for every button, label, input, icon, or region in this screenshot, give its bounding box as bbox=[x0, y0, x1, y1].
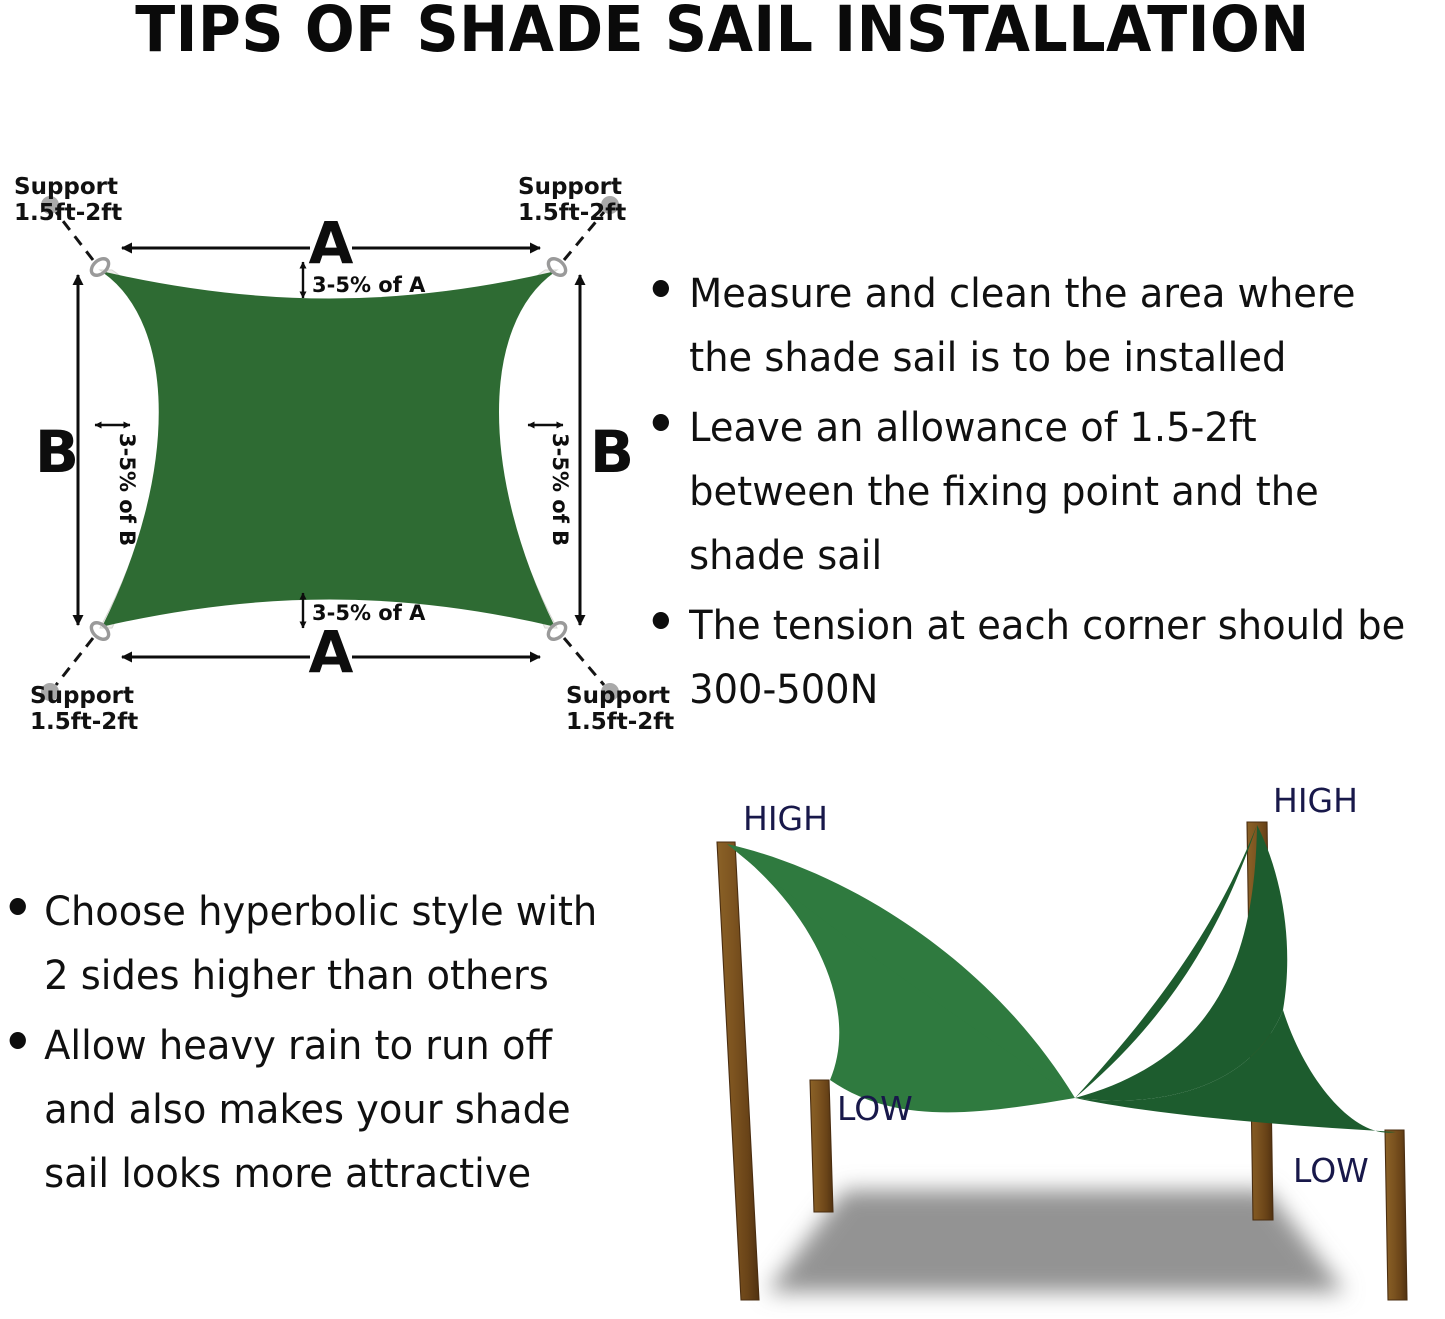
page-title: TIPS OF SHADE SAIL INSTALLATION bbox=[51, 0, 1395, 64]
bullet-dot-icon bbox=[653, 414, 669, 431]
dimension-b-left: B bbox=[35, 275, 79, 625]
hyperbolic-sail-diagram: HIGH HIGH LOW LOW bbox=[655, 780, 1445, 1319]
support-label-line2: 1.5ft-2ft bbox=[518, 200, 626, 226]
label-low-left: LOW bbox=[837, 1089, 913, 1128]
dimension-a-bottom-label: A bbox=[309, 618, 354, 686]
hyperbolic-tips-list: Choose hyperbolic style with 2 sides hig… bbox=[0, 880, 625, 1212]
list-item: Measure and clean the area where the sha… bbox=[645, 262, 1418, 390]
bullet-dot-icon bbox=[653, 612, 669, 629]
curve-depth-b-right: 3-5% of B bbox=[528, 425, 572, 546]
support-label-line1: Support bbox=[518, 174, 622, 200]
curve-depth-a-bottom-label: 3-5% of A bbox=[312, 601, 426, 625]
support-label-line1: Support bbox=[30, 683, 134, 709]
curve-depth-b-left: 3-5% of B bbox=[95, 425, 139, 546]
bullet-dot-icon bbox=[653, 280, 669, 297]
post-low-right bbox=[1385, 1130, 1407, 1300]
post-high-left bbox=[717, 842, 759, 1300]
support-label-line1: Support bbox=[14, 174, 118, 200]
support-label-top-left: Support 1.5ft-2ft bbox=[14, 174, 122, 226]
curve-depth-a-top-label: 3-5% of A bbox=[312, 273, 426, 297]
list-item: Leave an allowance of 1.5-2ft between th… bbox=[645, 396, 1418, 588]
list-item: The tension at each corner should be 300… bbox=[645, 594, 1418, 722]
list-item-text: The tension at each corner should be 300… bbox=[689, 594, 1418, 722]
list-item-text: Leave an allowance of 1.5-2ft between th… bbox=[689, 396, 1418, 588]
curve-depth-b-right-label: 3-5% of B bbox=[548, 433, 572, 546]
dimension-a-top-label: A bbox=[309, 209, 354, 277]
dimension-b-right: B bbox=[580, 275, 634, 625]
label-high-right: HIGH bbox=[1273, 781, 1358, 820]
bullet-dot-icon bbox=[10, 1032, 26, 1049]
label-low-right: LOW bbox=[1293, 1151, 1369, 1190]
list-item-text: Measure and clean the area where the sha… bbox=[689, 262, 1418, 390]
list-item-text: Choose hyperbolic style with 2 sides hig… bbox=[44, 880, 600, 1008]
rectangular-sail-diagram: Support 1.5ft-2ft Support 1.5ft-2ft Supp… bbox=[0, 150, 680, 730]
dimension-a-bottom: A bbox=[122, 618, 540, 686]
list-item-text: Allow heavy rain to run off and also mak… bbox=[44, 1014, 600, 1206]
support-label-bottom-left: Support 1.5ft-2ft bbox=[30, 683, 138, 730]
bullet-dot-icon bbox=[10, 898, 26, 915]
curve-depth-b-left-label: 3-5% of B bbox=[115, 433, 139, 546]
infographic-page: TIPS OF SHADE SAIL INSTALLATION bbox=[0, 0, 1445, 1319]
tether-line-bottom-right bbox=[564, 638, 604, 685]
shade-sail-fabric bbox=[103, 272, 554, 626]
dimension-b-left-label: B bbox=[35, 418, 79, 486]
support-label-line2: 1.5ft-2ft bbox=[14, 200, 122, 226]
list-item: Choose hyperbolic style with 2 sides hig… bbox=[0, 880, 600, 1008]
post-low-left bbox=[810, 1080, 833, 1212]
list-item: Allow heavy rain to run off and also mak… bbox=[0, 1014, 600, 1206]
tether-line-bottom-left bbox=[56, 638, 93, 685]
installation-tips-list: Measure and clean the area where the sha… bbox=[645, 262, 1445, 728]
support-label-top-right: Support 1.5ft-2ft bbox=[518, 174, 626, 226]
support-label-line2: 1.5ft-2ft bbox=[30, 709, 138, 730]
label-high-left: HIGH bbox=[743, 799, 828, 838]
dimension-b-right-label: B bbox=[590, 418, 634, 486]
dimension-a-top: A bbox=[122, 209, 540, 277]
